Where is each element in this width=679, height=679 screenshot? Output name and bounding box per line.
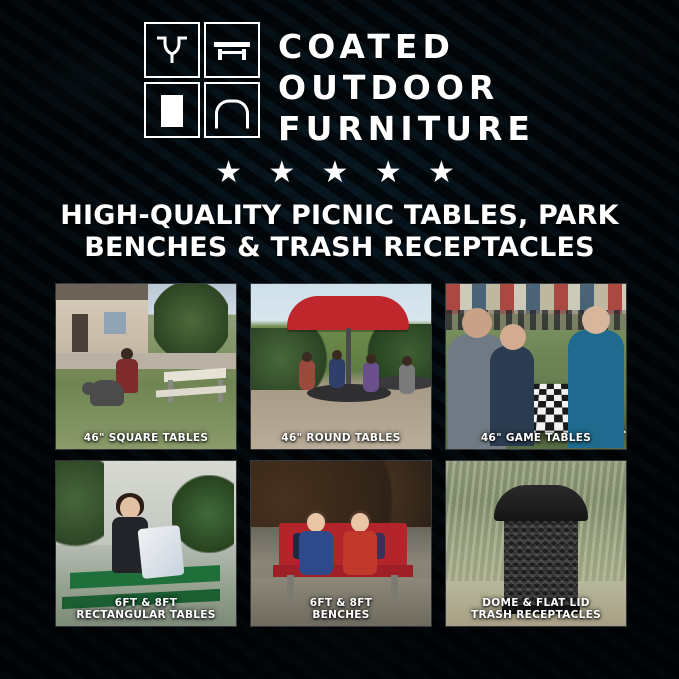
tile-caption: DOME & FLAT LID TRASH RECEPTACLES [446,593,626,626]
headline-line-1: HIGH-QUALITY PICNIC TABLES, PARK [0,200,679,232]
star-rating: ★ ★ ★ ★ ★ [0,158,679,188]
tile-caption: 6FT & 8FT RECTANGULAR TABLES [56,593,236,626]
product-tile-game-tables[interactable]: 46" GAME TABLES [445,283,627,450]
logo-line-1: COATED [278,26,535,67]
logo-icon-grid [144,22,260,138]
table-legs-icon [144,22,200,78]
arch-icon [204,82,260,138]
caption-line-1: 6FT & 8FT [59,597,233,609]
logo-line-2: OUTDOOR [278,67,535,108]
product-grid: 46" SQUARE TABLES 46" ROUND TABLES [55,283,625,625]
caption-line-1: 46" ROUND TABLES [254,432,428,444]
logo-line-3: FURNITURE [278,108,535,149]
photo-round-tables [251,284,431,449]
caption-line-2: RECTANGULAR TABLES [59,609,233,621]
table-legs-glyph [155,35,189,65]
brand-logo: COATED OUTDOOR FURNITURE [0,22,679,149]
caption-line-1: 46" SQUARE TABLES [59,432,233,444]
product-tile-trash-receptacles[interactable]: DOME & FLAT LID TRASH RECEPTACLES [445,460,627,627]
tile-caption: 46" SQUARE TABLES [56,428,236,449]
headline: HIGH-QUALITY PICNIC TABLES, PARK BENCHES… [0,200,679,264]
bench-glyph [212,37,252,63]
bench-icon [204,22,260,78]
headline-line-2: BENCHES & TRASH RECEPTACLES [0,232,679,264]
product-tile-square-tables[interactable]: 46" SQUARE TABLES [55,283,237,450]
product-tile-benches[interactable]: 6FT & 8FT BENCHES [250,460,432,627]
advertisement-banner: COATED OUTDOOR FURNITURE ★ ★ ★ ★ ★ HIGH-… [0,0,679,679]
caption-line-1: 6FT & 8FT [254,597,428,609]
trash-receptacle-icon [144,82,200,138]
caption-line-2: TRASH RECEPTACLES [449,609,623,621]
product-tile-round-tables[interactable]: 46" ROUND TABLES [250,283,432,450]
caption-line-1: 46" GAME TABLES [449,432,623,444]
product-tile-rectangular-tables[interactable]: 6FT & 8FT RECTANGULAR TABLES [55,460,237,627]
tile-caption: 46" ROUND TABLES [251,428,431,449]
tile-caption: 6FT & 8FT BENCHES [251,593,431,626]
caption-line-2: BENCHES [254,609,428,621]
photo-square-tables [56,284,236,449]
photo-game-tables [446,284,626,449]
brand-wordmark: COATED OUTDOOR FURNITURE [278,22,535,149]
tile-caption: 46" GAME TABLES [446,428,626,449]
caption-line-1: DOME & FLAT LID [449,597,623,609]
